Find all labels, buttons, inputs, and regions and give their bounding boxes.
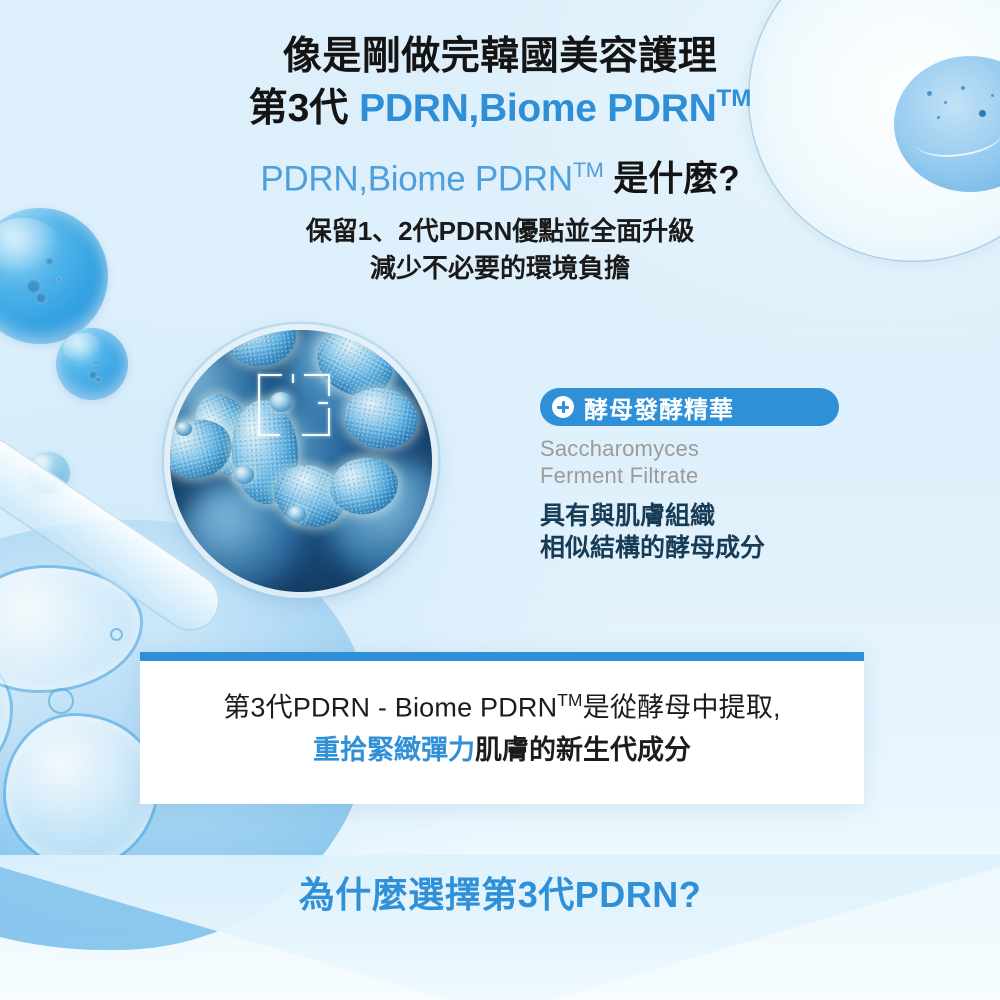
callout-rest: 肌膚的新生代成分	[475, 735, 691, 765]
trademark-symbol: TM	[717, 85, 752, 112]
latin-line-2: Ferment Filtrate	[540, 462, 860, 489]
question-suffix: 是什麼?	[613, 159, 739, 198]
headline-line-2: 第3代 PDRN,Biome PDRNTM	[0, 84, 1000, 133]
description-line-2: 相似結構的酵母成分	[540, 532, 860, 565]
headings-block: 像是剛做完韓國美容護理 第3代 PDRN,Biome PDRNTM PDRN,B…	[0, 0, 1000, 287]
callout-line-1-a: 第3代PDRN - Biome PDRN	[223, 692, 557, 722]
microscope-yeast-image	[170, 330, 432, 592]
ingredient-latin-name: Saccharomyces Ferment Filtrate	[540, 435, 860, 490]
promo-banner: 像是剛做完韓國美容護理 第3代 PDRN,Biome PDRNTM PDRN,B…	[0, 0, 1000, 1000]
question-heading: PDRN,Biome PDRNTM 是什麼?	[0, 157, 1000, 200]
question-sub-block: 保留1、2代PDRN優點並全面升級 減少不必要的環境負擔	[0, 213, 1000, 287]
callout-body: 第3代PDRN - Biome PDRNTM是從酵母中提取, 重拾緊緻彈力肌膚的…	[140, 661, 864, 768]
footer-title: 為什麼選擇第3代PDRN?	[0, 866, 1000, 918]
callout-line-1: 第3代PDRN - Biome PDRNTM是從酵母中提取,	[140, 689, 864, 726]
plus-icon	[552, 396, 574, 418]
ingredient-badge-label: 酵母發酵精華	[584, 390, 734, 425]
callout-card: 第3代PDRN - Biome PDRNTM是從酵母中提取, 重拾緊緻彈力肌膚的…	[140, 652, 864, 804]
headline-prefix: 第3代	[249, 87, 349, 130]
gel-bubble-small	[28, 452, 70, 494]
question-product: PDRN,Biome PDRN	[260, 159, 573, 198]
description-line-1: 具有與肌膚組織	[540, 500, 860, 533]
callout-trademark: TM	[557, 690, 582, 710]
callout-line-2: 重拾緊緻彈力肌膚的新生代成分	[140, 732, 864, 768]
callout-line-1-b: 是從酵母中提取,	[583, 692, 781, 722]
question-trademark: TM	[573, 157, 604, 182]
headline-line-1: 像是剛做完韓國美容護理	[0, 34, 1000, 80]
callout-highlight: 重拾緊緻彈力	[313, 735, 475, 765]
gel-bubble-medium	[56, 328, 128, 400]
focus-bracket-icon	[258, 374, 330, 436]
callout-accent-bar	[140, 652, 864, 661]
ingredient-description: 具有與肌膚組織 相似結構的酵母成分	[540, 500, 860, 565]
ingredient-block: 酵母發酵精華 Saccharomyces Ferment Filtrate 具有…	[540, 388, 860, 565]
ingredient-badge: 酵母發酵精華	[540, 388, 839, 426]
headline-product: PDRN,Biome PDRN	[359, 87, 716, 130]
latin-line-1: Saccharomyces	[540, 435, 860, 462]
question-sub-line-1: 保留1、2代PDRN優點並全面升級	[0, 213, 1000, 250]
question-sub-line-2: 減少不必要的環境負擔	[0, 250, 1000, 287]
